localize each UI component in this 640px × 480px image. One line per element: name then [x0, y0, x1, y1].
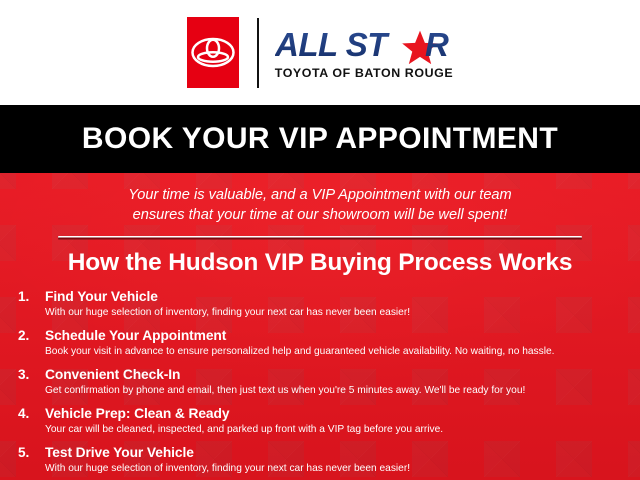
list-item: 3. Convenient Check-In Get confirmation … — [18, 367, 628, 397]
process-steps-list: 1. Find Your Vehicle With our huge selec… — [0, 289, 640, 475]
promo-body: Your time is valuable, and a VIP Appoint… — [0, 173, 640, 480]
list-item: 2. Schedule Your Appointment Book your v… — [18, 328, 628, 358]
page-title: BOOK YOUR VIP APPOINTMENT — [82, 122, 558, 156]
step-number: 1. — [18, 289, 45, 305]
intro-line-2: ensures that your time at our showroom w… — [0, 205, 640, 225]
intro-message: Your time is valuable, and a VIP Appoint… — [0, 173, 640, 225]
promo-page: ALL ST R TOYOTA OF BATON ROUGE BOOK YOUR… — [0, 0, 640, 480]
intro-line-1: Your time is valuable, and a VIP Appoint… — [0, 185, 640, 205]
step-number: 5. — [18, 445, 45, 461]
list-item: 1. Find Your Vehicle With our huge selec… — [18, 289, 628, 319]
toyota-emblem-icon — [187, 17, 239, 88]
dealer-logo-bar: ALL ST R TOYOTA OF BATON ROUGE — [0, 0, 640, 105]
step-description: Book your visit in advance to ensure per… — [45, 345, 628, 358]
svg-text:R: R — [425, 26, 449, 63]
section-divider — [58, 236, 582, 239]
logo-divider — [257, 18, 259, 88]
step-title: Vehicle Prep: Clean & Ready — [45, 406, 628, 422]
step-title: Convenient Check-In — [45, 367, 628, 383]
step-number: 3. — [18, 367, 45, 383]
step-number: 2. — [18, 328, 45, 344]
step-description: Get confirmation by phone and email, the… — [45, 384, 628, 397]
allstar-wordmark: ALL ST R — [275, 25, 453, 65]
allstar-brand-block: ALL ST R TOYOTA OF BATON ROUGE — [275, 25, 454, 80]
step-description: Your car will be cleaned, inspected, and… — [45, 423, 628, 436]
dealer-tagline: TOYOTA OF BATON ROUGE — [275, 66, 454, 80]
title-banner: BOOK YOUR VIP APPOINTMENT — [0, 105, 640, 173]
step-number: 4. — [18, 406, 45, 422]
step-description: With our huge selection of inventory, fi… — [45, 306, 628, 319]
section-heading: How the Hudson VIP Buying Process Works — [0, 249, 640, 277]
step-title: Schedule Your Appointment — [45, 328, 628, 344]
step-description: With our huge selection of inventory, fi… — [45, 462, 628, 475]
list-item: 5. Test Drive Your Vehicle With our huge… — [18, 445, 628, 475]
dealer-logo[interactable]: ALL ST R TOYOTA OF BATON ROUGE — [187, 17, 454, 89]
step-title: Find Your Vehicle — [45, 289, 628, 305]
svg-text:ALL ST: ALL ST — [275, 26, 390, 63]
list-item: 4. Vehicle Prep: Clean & Ready Your car … — [18, 406, 628, 436]
step-title: Test Drive Your Vehicle — [45, 445, 628, 461]
